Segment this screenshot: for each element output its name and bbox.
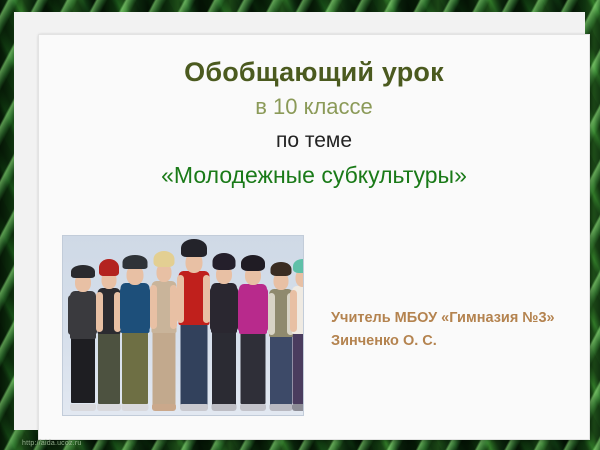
figure-red-mohawk-girl [96, 259, 121, 411]
topic-name: «Молодежные субкультуры» [39, 158, 589, 192]
credit-line-teacher: Зинченко О. С. [331, 330, 581, 353]
credit-block: Учитель МБОУ «Гимназия №3» Зинченко О. С… [331, 307, 581, 353]
figure-pink-hoodie-girl [238, 255, 268, 411]
slide-mat: Обобщающий урок в 10 классе по теме «Мол… [14, 12, 585, 430]
class-subtitle: в 10 классе [39, 91, 589, 123]
subculture-illustration [62, 235, 304, 416]
slide-frame: Обобщающий урок в 10 классе по теме «Мол… [0, 0, 600, 450]
topic-label: по теме [39, 125, 589, 157]
figure-blonde-plaid-girl [150, 251, 177, 411]
figure-red-shirt-emo-boy [177, 239, 210, 411]
title-block: Обобщающий урок в 10 классе по теме «Мол… [39, 55, 589, 192]
source-watermark: http://aida.ucoz.ru [22, 440, 81, 447]
page-title: Обобщающий урок [39, 55, 589, 89]
figure-dark-hoodie-girl [210, 253, 238, 411]
figure-rapper-cap-boy [69, 263, 96, 411]
slide-card: Обобщающий урок в 10 классе по теме «Мол… [38, 34, 590, 440]
credit-line-school: Учитель МБОУ «Гимназия №3» [331, 307, 581, 330]
figure-bandana-boy [120, 255, 150, 411]
